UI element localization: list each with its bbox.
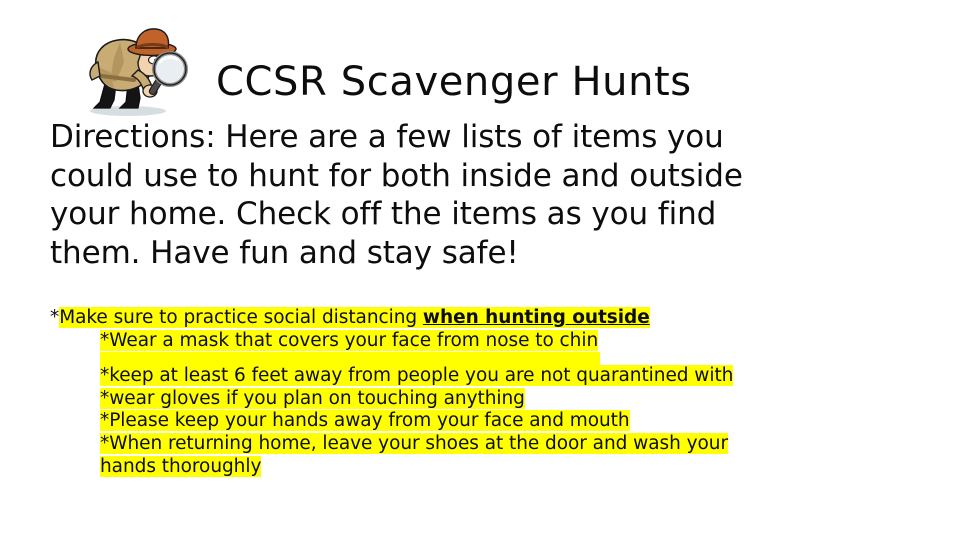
bullet-text: Make sure to practice social distancing (59, 307, 423, 328)
safety-bullet-list: *Make sure to practice social distancing… (50, 307, 940, 478)
bullet-item-1: *Make sure to practice social distancing… (50, 307, 940, 330)
bullet-text: *Wear a mask that covers your face from … (100, 330, 598, 351)
bullet-text: *Please keep your hands away from your f… (100, 410, 630, 431)
directions-paragraph: Directions: Here are a few lists of item… (50, 118, 906, 272)
bullet-text: *wear gloves if you plan on touching any… (100, 388, 525, 409)
bullet-text: *When returning home, leave your shoes a… (100, 433, 728, 454)
bullet-item-6: *When returning home, leave your shoes a… (50, 433, 940, 456)
slide-header: CCSR Scavenger Hunts (0, 0, 960, 118)
bullet-marker: * (50, 307, 59, 328)
directions-line: them. Have fun and stay safe! (50, 234, 906, 273)
directions-line: your home. Check off the items as you fi… (50, 195, 906, 234)
slide-canvas: CCSR Scavenger Hunts Directions: Here ar… (0, 0, 960, 540)
bullet-emphasis-text: when hunting outside (423, 307, 650, 328)
bullet-item-6-wrap: hands thoroughly (50, 456, 940, 479)
bullet-item-5: *Please keep your hands away from your f… (50, 410, 940, 433)
bullet-item-2: *Wear a mask that covers your face from … (50, 330, 940, 353)
detective-icon (80, 22, 190, 118)
bullet-item-4: *wear gloves if you plan on touching any… (50, 388, 940, 411)
bullet-item-3: *keep at least 6 feet away from people y… (50, 365, 940, 388)
directions-line: Directions: Here are a few lists of item… (50, 118, 906, 157)
page-title: CCSR Scavenger Hunts (216, 58, 692, 106)
highlight-spacer-row (50, 352, 940, 365)
bullet-text: hands thoroughly (100, 456, 261, 477)
highlight-spacer-fill (100, 352, 600, 365)
directions-line: could use to hunt for both inside and ou… (50, 157, 906, 196)
bullet-text: *keep at least 6 feet away from people y… (100, 365, 733, 386)
